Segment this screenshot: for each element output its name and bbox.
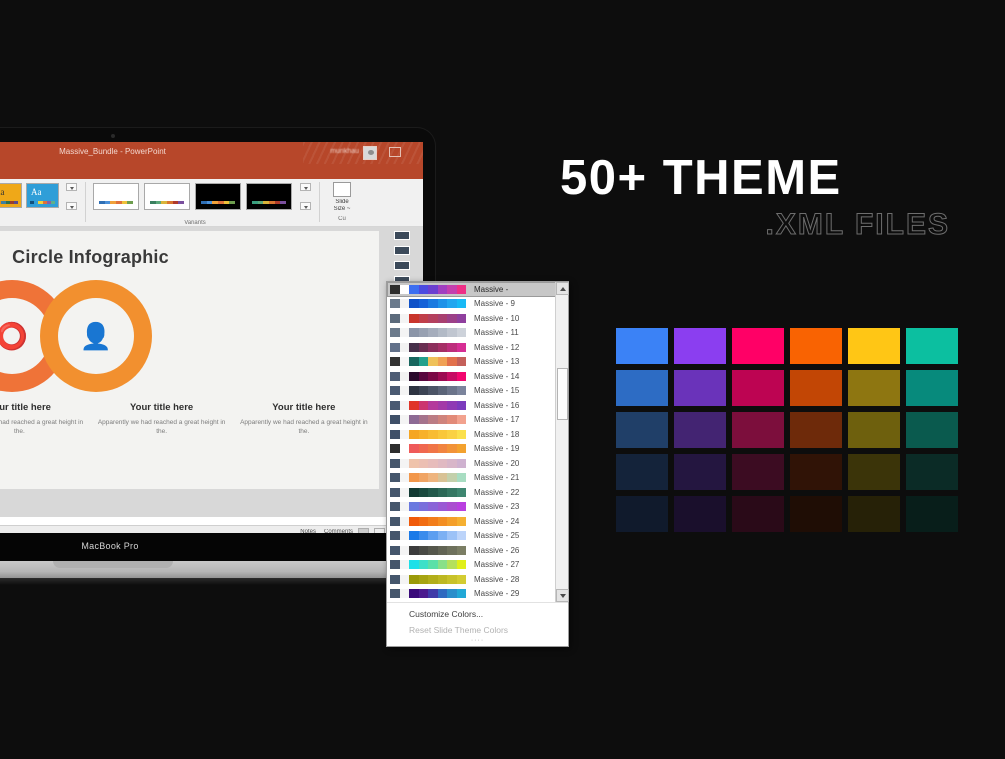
palette-swatch-r1-c2 xyxy=(674,328,726,364)
theme-color-row[interactable]: Massive - 26 xyxy=(387,543,568,558)
theme-color-preview xyxy=(390,488,466,497)
theme-color-row[interactable]: Massive - 29 xyxy=(387,587,568,602)
theme-color-preview xyxy=(390,285,466,294)
theme-color-row[interactable]: Massive - 15 xyxy=(387,384,568,399)
theme-color-row[interactable]: Massive - 14 xyxy=(387,369,568,384)
dropdown-resize-grip[interactable]: ···· xyxy=(471,637,484,644)
palette-swatch-r3-c2 xyxy=(674,412,726,448)
scroll-down-arrow[interactable] xyxy=(556,589,569,602)
slide-size-label-2: Size ~ xyxy=(325,206,359,213)
variant-color-bar xyxy=(252,201,286,204)
theme-color-bar xyxy=(0,201,18,204)
theme-color-name: Massive - 14 xyxy=(474,372,519,381)
palette-swatch-r1-c3 xyxy=(732,328,784,364)
laptop-screen: Massive_Bundle - PowerPoint murikhau Tel… xyxy=(0,142,423,538)
variant-color-bar xyxy=(99,201,133,204)
palette-swatch-r2-c5 xyxy=(848,370,900,406)
theme-sample-text: Aa xyxy=(0,187,5,197)
palette-swatch-r5-c2 xyxy=(674,496,726,532)
theme-sample-text: Aa xyxy=(31,187,42,197)
theme-color-row[interactable]: Massive - 12 xyxy=(387,340,568,355)
theme-color-preview xyxy=(390,546,466,555)
theme-color-preview xyxy=(390,444,466,453)
palette-swatch-r5-c1 xyxy=(616,496,668,532)
theme-color-preview xyxy=(390,343,466,352)
theme-color-row[interactable]: Massive - 18 xyxy=(387,427,568,442)
user-tie-icon: 👤 xyxy=(58,298,134,374)
theme-color-row[interactable]: Massive - 9 xyxy=(387,297,568,312)
palette-swatch-r2-c1 xyxy=(616,370,668,406)
variant-dark-1[interactable] xyxy=(195,183,241,210)
theme-color-row[interactable]: Massive - 17 xyxy=(387,413,568,428)
palette-swatch-r2-c4 xyxy=(790,370,842,406)
tell-me-bar[interactable]: Tell me what you want to do xyxy=(0,164,423,179)
theme-color-name: Massive - 11 xyxy=(474,328,519,337)
color-swatch-grid xyxy=(616,328,958,532)
theme-color-preview xyxy=(390,401,466,410)
palette-swatch-r1-c1 xyxy=(616,328,668,364)
ribbon-display-options-icon[interactable] xyxy=(389,147,401,157)
theme-color-name: Massive - 23 xyxy=(474,502,519,511)
slide-title: Circle Infographic xyxy=(0,247,379,268)
account-user-name[interactable]: murikhau xyxy=(330,148,359,155)
palette-swatch-r5-c5 xyxy=(848,496,900,532)
theme-color-name: Massive - 25 xyxy=(474,531,519,540)
theme-color-preview xyxy=(390,589,466,598)
infographic-caption-2: Your title hereApparently we had reached… xyxy=(0,402,91,436)
document-title: Massive_Bundle - PowerPoint xyxy=(59,147,166,156)
theme-color-preview xyxy=(390,531,466,540)
palette-swatch-r4-c3 xyxy=(732,454,784,490)
theme-color-name: Massive - 10 xyxy=(474,314,519,323)
variants-gallery-spinners[interactable] xyxy=(300,183,311,210)
infographic-caption-3: Your title hereApparently we had reached… xyxy=(91,402,233,436)
variants-more-button[interactable] xyxy=(300,202,311,210)
theme-color-row[interactable]: Massive - 19 xyxy=(387,442,568,457)
variant-light-1[interactable] xyxy=(93,183,139,210)
palette-swatch-r3-c3 xyxy=(732,412,784,448)
page-title: 50+ THEME xyxy=(560,152,980,204)
page-subtitle: .XML FILES xyxy=(560,208,980,242)
caption-title: Your title here xyxy=(239,402,369,413)
caption-description: Apparently we had reached a great height… xyxy=(0,418,85,436)
gallery-scroll-up-button[interactable] xyxy=(66,183,77,191)
theme-color-row[interactable]: Massive - 16 xyxy=(387,398,568,413)
variants-gallery-group: Variants xyxy=(91,179,299,227)
themes-group-label: Themes xyxy=(0,220,65,226)
slide-canvas[interactable]: Circle Infographic ☕✒⭕👤 Your title hereA… xyxy=(0,231,379,489)
theme-color-preview xyxy=(390,459,466,468)
palette-swatch-r4-c4 xyxy=(790,454,842,490)
variant-dark-2[interactable] xyxy=(246,183,292,210)
theme-color-row[interactable]: Massive - xyxy=(387,282,568,297)
theme-color-name: Massive - 12 xyxy=(474,343,519,352)
theme-color-preview xyxy=(390,357,466,366)
theme-color-name: Massive - 19 xyxy=(474,444,519,453)
dropdown-scrollbar[interactable] xyxy=(555,282,568,602)
headline-block: 50+ THEME .XML FILES xyxy=(560,152,980,242)
slide-thumbnail-swatch xyxy=(394,231,410,240)
customize-colors-label: Customize Colors... xyxy=(409,609,483,619)
scroll-up-arrow[interactable] xyxy=(556,282,569,295)
palette-swatch-r4-c2 xyxy=(674,454,726,490)
theme-color-name: Massive - xyxy=(474,285,508,294)
palette-swatch-r2-c6 xyxy=(906,370,958,406)
theme-color-name: Massive - 29 xyxy=(474,589,519,598)
theme-color-preview xyxy=(390,328,466,337)
customize-group-label: Cu xyxy=(325,216,359,222)
reset-slide-theme-colors-command: Reset Slide Theme Colors xyxy=(387,619,568,635)
theme-color-row[interactable]: Massive - 20 xyxy=(387,456,568,471)
slide-size-button[interactable]: Slide Size ~ Cu xyxy=(325,179,359,223)
theme-circuit[interactable]: Aa xyxy=(0,183,22,208)
theme-color-name: Massive - 17 xyxy=(474,415,519,424)
palette-swatch-r3-c6 xyxy=(906,412,958,448)
macbook-mockup: Massive_Bundle - PowerPoint murikhau Tel… xyxy=(0,128,435,540)
palette-swatch-r5-c6 xyxy=(906,496,958,532)
slide-workspace: Circle Infographic ☕✒⭕👤 Your title hereA… xyxy=(0,227,423,517)
theme-color-name: Massive - 18 xyxy=(474,430,519,439)
theme-color-row[interactable]: Massive - 10 xyxy=(387,311,568,326)
theme-colors-list[interactable]: Massive -Massive - 9Massive - 10Massive … xyxy=(387,282,568,602)
infographic-caption-4: Your title hereApparently we had reached… xyxy=(233,402,375,436)
ribbon-divider-2 xyxy=(319,182,320,222)
variant-light-2[interactable] xyxy=(144,183,190,210)
theme-color-preview xyxy=(390,372,466,381)
slide-size-icon xyxy=(333,182,351,197)
variant-color-bar xyxy=(201,201,235,204)
theme-color-preview xyxy=(390,560,466,569)
theme-color-name: Massive - 24 xyxy=(474,517,519,526)
account-avatar[interactable] xyxy=(363,146,377,160)
themes-gallery-spinners[interactable] xyxy=(66,183,77,210)
slide-thumbnail-swatch xyxy=(394,246,410,255)
theme-color-name: Massive - 16 xyxy=(474,401,519,410)
theme-color-name: Massive - 15 xyxy=(474,386,519,395)
infographic-captions: Your title hereApparently we had reached… xyxy=(0,402,379,436)
palette-swatch-r1-c5 xyxy=(848,328,900,364)
variants-scroll-up-button[interactable] xyxy=(300,183,311,191)
variant-color-bar xyxy=(150,201,184,204)
theme-color-row[interactable]: Massive - 13 xyxy=(387,355,568,370)
powerpoint-title-bar: Massive_Bundle - PowerPoint murikhau xyxy=(0,142,423,164)
theme-colors-dropdown[interactable]: Massive -Massive - 9Massive - 10Massive … xyxy=(386,281,569,647)
palette-swatch-r4-c6 xyxy=(906,454,958,490)
theme-color-row[interactable]: Massive - 27 xyxy=(387,558,568,573)
palette-swatch-r5-c3 xyxy=(732,496,784,532)
scrollbar-thumb[interactable] xyxy=(557,368,568,420)
theme-color-row[interactable]: Massive - 28 xyxy=(387,572,568,587)
theme-color-row[interactable]: Massive - 24 xyxy=(387,514,568,529)
laptop-base-notch xyxy=(53,561,173,568)
theme-color-preview xyxy=(390,473,466,482)
reset-colors-label: Reset Slide Theme Colors xyxy=(409,625,508,635)
theme-color-name: Massive - 26 xyxy=(474,546,519,555)
caption-title: Your title here xyxy=(0,402,85,413)
poster-canvas: Massive_Bundle - PowerPoint murikhau Tel… xyxy=(0,0,1005,759)
ribbon-divider xyxy=(85,182,86,222)
design-ribbon: Themes AaAaAaAaAaAaAa Variants Slide xyxy=(0,179,423,227)
theme-color-preview xyxy=(390,575,466,584)
theme-color-name: Massive - 27 xyxy=(474,560,519,569)
theme-color-row[interactable]: Massive - 22 xyxy=(387,485,568,500)
palette-swatch-r4-c1 xyxy=(616,454,668,490)
theme-color-row[interactable]: Massive - 25 xyxy=(387,529,568,544)
theme-droplet[interactable]: Aa xyxy=(26,183,59,208)
palette-swatch-r2-c3 xyxy=(732,370,784,406)
theme-color-name: Massive - 13 xyxy=(474,357,519,366)
theme-color-preview xyxy=(390,299,466,308)
palette-swatch-r2-c2 xyxy=(674,370,726,406)
dropdown-footer: Customize Colors... Reset Slide Theme Co… xyxy=(387,602,568,646)
palette-swatch-r1-c4 xyxy=(790,328,842,364)
theme-color-row[interactable]: Massive - 21 xyxy=(387,471,568,486)
theme-color-preview xyxy=(390,386,466,395)
theme-color-name: Massive - 21 xyxy=(474,473,519,482)
caption-description: Apparently we had reached a great height… xyxy=(239,418,369,436)
caption-description: Apparently we had reached a great height… xyxy=(97,418,227,436)
caption-title: Your title here xyxy=(97,402,227,413)
variants-group-label: Variants xyxy=(91,220,299,226)
themes-gallery-group: Themes AaAaAaAaAaAaAa xyxy=(0,179,65,227)
palette-swatch-r3-c1 xyxy=(616,412,668,448)
palette-swatch-r4-c5 xyxy=(848,454,900,490)
theme-color-bar xyxy=(30,201,55,204)
theme-color-preview xyxy=(390,430,466,439)
theme-color-row[interactable]: Massive - 23 xyxy=(387,500,568,515)
theme-color-name: Massive - 28 xyxy=(474,575,519,584)
theme-color-name: Massive - 20 xyxy=(474,459,519,468)
palette-swatch-r3-c4 xyxy=(790,412,842,448)
theme-color-name: Massive - 9 xyxy=(474,299,515,308)
palette-swatch-r5-c4 xyxy=(790,496,842,532)
theme-color-preview xyxy=(390,517,466,526)
circle-infographic-graphic: ☕✒⭕👤 xyxy=(0,280,379,402)
slide-size-label-1: Slide xyxy=(325,199,359,206)
gallery-more-button[interactable] xyxy=(66,202,77,210)
webcam-icon xyxy=(111,134,115,138)
theme-color-name: Massive - 22 xyxy=(474,488,519,497)
customize-colors-command[interactable]: Customize Colors... xyxy=(387,603,568,619)
theme-color-preview xyxy=(390,502,466,511)
theme-color-row[interactable]: Massive - 11 xyxy=(387,326,568,341)
palette-swatch-r1-c6 xyxy=(906,328,958,364)
slide-thumbnail-swatch xyxy=(394,261,410,270)
theme-color-preview xyxy=(390,415,466,424)
device-label: MacBook Pro xyxy=(81,541,138,551)
palette-swatch-r3-c5 xyxy=(848,412,900,448)
theme-color-preview xyxy=(390,314,466,323)
infographic-circle-4: 👤 xyxy=(40,280,152,392)
